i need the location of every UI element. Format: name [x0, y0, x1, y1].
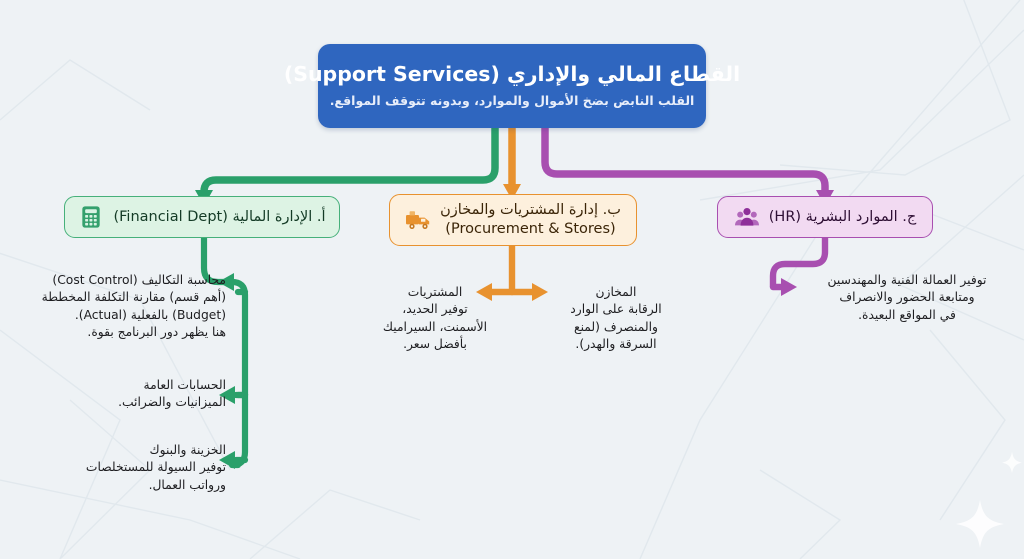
leaf-cost-control-line1: (أهم قسم) مقارنة التكلفة المخططة	[18, 289, 226, 306]
department-node-procurement[interactable]: ب. إدارة المشتريات والمخازن (Procurement…	[389, 194, 637, 246]
leaf-treasury-banks-head: الخزينة والبنوك	[40, 442, 226, 459]
leaf-purchases-line3: بأفضل سعر.	[376, 336, 494, 353]
leaf-cost-control-line2: (Budget) بالفعلية (Actual).	[18, 307, 226, 324]
leaf-general-accounts-line1: الميزانيات والضرائب.	[78, 394, 226, 411]
leaf-hr-staffing-line3: في المواقع البعيدة.	[800, 307, 1014, 324]
leaf-treasury-banks: الخزينة والبنوك توفير السيولة للمستخلصات…	[40, 442, 226, 494]
department-label-procurement-line2: (Procurement & Stores)	[445, 221, 615, 237]
leaf-purchases-line2: الأسمنت، السيراميك	[376, 319, 494, 336]
department-node-financial[interactable]: أ. الإدارة المالية (Financial Dept)	[64, 196, 340, 238]
people-group-icon	[734, 204, 760, 230]
diagram-canvas: القطاع المالي والإداري (Support Services…	[0, 0, 1024, 559]
leaf-hr-staffing-line2: ومتابعة الحضور والانصراف	[800, 289, 1014, 306]
root-subtitle: القلب النابض بضخ الأموال والموارد، وبدون…	[330, 93, 695, 110]
leaf-hr-staffing: توفير العمالة الفنية والمهندسين ومتابعة …	[800, 272, 1014, 324]
leaf-stores-line1: الرقابة على الوارد	[556, 301, 676, 318]
department-label-financial: أ. الإدارة المالية (Financial Dept)	[113, 208, 325, 227]
leaf-cost-control: محاسبة التكاليف (Cost Control) (أهم قسم)…	[18, 272, 226, 342]
leaf-cost-control-head: محاسبة التكاليف (Cost Control)	[18, 272, 226, 289]
root-title: القطاع المالي والإداري (Support Services…	[284, 62, 740, 88]
leaf-hr-staffing-line1: توفير العمالة الفنية والمهندسين	[800, 272, 1014, 289]
delivery-truck-icon	[405, 207, 431, 233]
department-label-hr: ج. الموارد البشرية (HR)	[769, 208, 917, 227]
leaf-stores-line3: السرقة والهدر).	[556, 336, 676, 353]
leaf-purchases-line1: توفير الحديد،	[376, 301, 494, 318]
leaf-cost-control-line3: هنا يظهر دور البرنامج بقوة.	[18, 324, 226, 341]
department-node-hr[interactable]: ج. الموارد البشرية (HR)	[717, 196, 933, 238]
root-node-support-services[interactable]: القطاع المالي والإداري (Support Services…	[318, 44, 706, 128]
leaf-treasury-banks-line2: ورواتب العمال.	[40, 477, 226, 494]
leaf-general-accounts: الحسابات العامة الميزانيات والضرائب.	[78, 377, 226, 412]
leaf-stores-head: المخازن	[556, 284, 676, 301]
leaf-general-accounts-head: الحسابات العامة	[78, 377, 226, 394]
leaf-purchases-head: المشتريات	[376, 284, 494, 301]
leaf-stores-line2: والمنصرف (لمنع	[556, 319, 676, 336]
leaf-purchases: المشتريات توفير الحديد، الأسمنت، السيرام…	[376, 284, 494, 354]
department-label-procurement-line1: ب. إدارة المشتريات والمخازن	[440, 202, 621, 218]
department-label-procurement: ب. إدارة المشتريات والمخازن (Procurement…	[440, 201, 621, 238]
calculator-icon	[78, 204, 104, 230]
leaf-stores: المخازن الرقابة على الوارد والمنصرف (لمن…	[556, 284, 676, 354]
leaf-treasury-banks-line1: توفير السيولة للمستخلصات	[40, 459, 226, 476]
